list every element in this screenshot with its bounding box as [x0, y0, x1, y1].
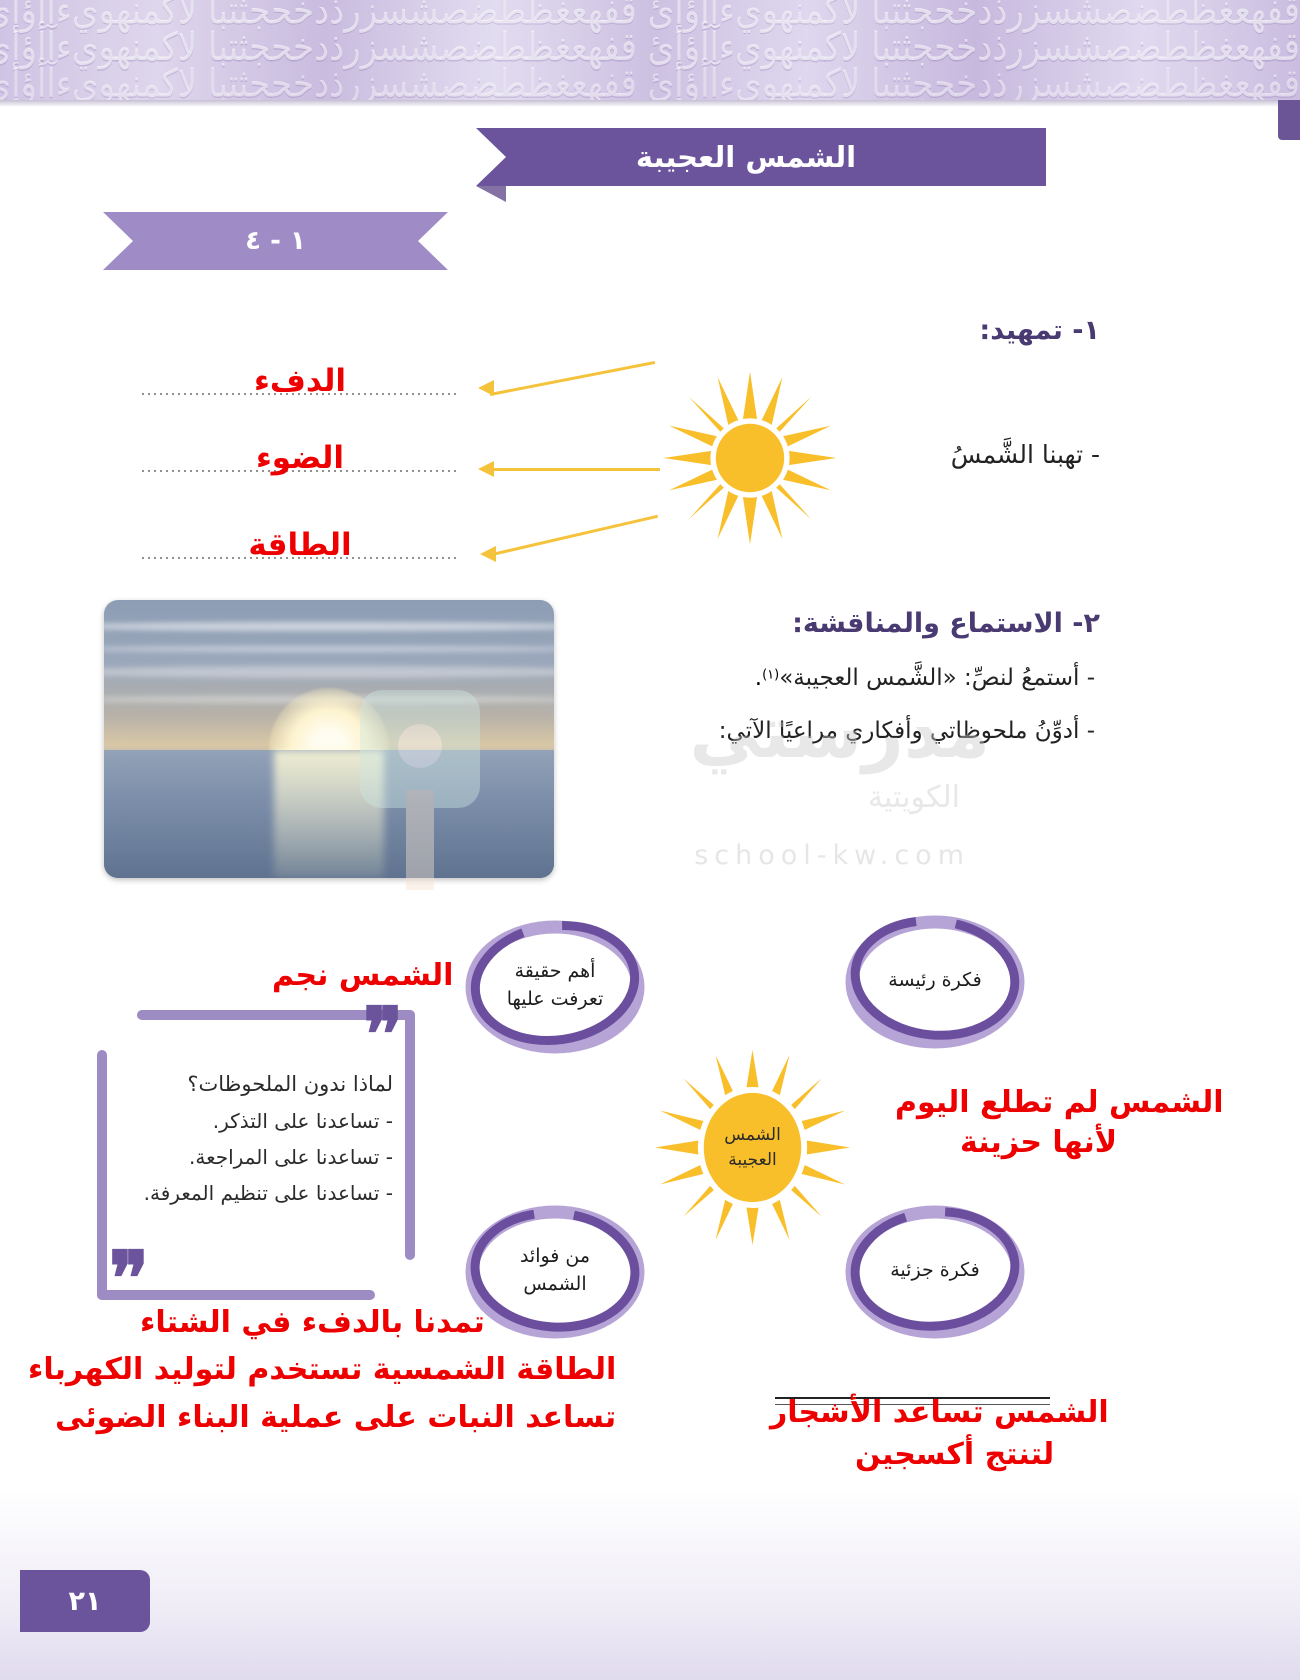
section2-line1-footnote: (١): [762, 668, 779, 683]
section2-line1-wrapper: - أستمعُ لنصِّ: «الشَّمس العجيبة»(١).: [755, 665, 1095, 691]
note-above-quote: الشمس نجم: [272, 958, 453, 993]
note-below-quote-line1: تمدنا بالدفء في الشتاء: [140, 1305, 485, 1340]
bubble-label: فكرة جزئية: [865, 1256, 1005, 1285]
bubble-top-left: أهم حقيقة تعرفت عليها: [460, 915, 650, 1055]
bubble-label: فكرة رئيسة: [865, 966, 1005, 995]
quote-close-icon: ❞: [109, 1254, 149, 1306]
bubble-bottom-right: فكرة جزئية: [840, 1200, 1030, 1340]
arabic-calligraphy-pattern-row3: قفهعغظطضصشسزرذدخحجثتبا لاكمنهويءآأؤإئ قف…: [0, 66, 1300, 100]
arrow-line-3: [492, 515, 658, 556]
bubble-label: أهم حقيقة تعرفت عليها: [485, 957, 625, 1014]
quote-item: - تساعدنا على المراجعة.: [118, 1145, 393, 1169]
answer-handwriting-3: الطاقة: [140, 527, 460, 563]
section1-prompt: - تهبنا الشَّمسُ: [951, 440, 1100, 469]
arrow-head-3: [480, 546, 496, 562]
answer-handwriting-2: الضوء: [140, 440, 460, 476]
arrow-line-1: [490, 361, 655, 396]
section2-heading: ٢- الاستماع والمناقشة:: [792, 608, 1100, 639]
bubble-label: من فوائد الشمس: [485, 1242, 625, 1299]
section2-line1: - أستمعُ لنصِّ: «الشَّمس العجيبة»: [779, 665, 1095, 691]
note-below-quote-line2: الطاقة الشمسية تستخدم لتوليد الكهرباء: [28, 1352, 616, 1387]
quote-open-icon: ❞: [363, 1010, 403, 1062]
quote-item: - تساعدنا على التذكر.: [118, 1109, 393, 1133]
arrow-head-2: [478, 461, 494, 477]
note-bottom-right-line2: لتنتج أكسجين: [855, 1437, 1054, 1472]
corner-tab: [1278, 100, 1300, 140]
bubble-top-right: فكرة رئيسة: [840, 910, 1030, 1050]
section1-heading: ١- تمهيد:: [979, 315, 1100, 346]
page-number: ٢١: [69, 1586, 102, 1617]
note-below-quote-line3: تساعد النبات على عملية البناء الضوئى: [55, 1400, 616, 1435]
arrow-line-2: [490, 468, 660, 471]
page-title: الشمس العجيبة: [636, 140, 886, 174]
page-number-badge: ٢١: [20, 1570, 150, 1632]
quote-title: لماذا ندون الملحوظات؟: [118, 1072, 393, 1096]
sun-illustration: [660, 368, 840, 548]
notes-rationale-card: ❞ ❞ لماذا ندون الملحوظات؟ - تساعدنا على …: [97, 1010, 415, 1300]
note-bottom-right-line1: الشمس تساعد الأشجار: [770, 1395, 1109, 1430]
arrow-head-1: [478, 380, 494, 396]
header-band-shadow: [0, 100, 1300, 107]
watermark-subtitle: الكويتية: [868, 780, 960, 815]
section2-line2: - أدوِّنُ ملحوظاتي وأفكاري مراعيًا الآتي…: [719, 718, 1095, 744]
watermark-url: school-kw.com: [694, 840, 970, 871]
note-right-of-map-line1: الشمس لم تطلع اليوم: [895, 1085, 1224, 1120]
title-ribbon-fold: [476, 186, 506, 202]
center-sun-label: الشمس العجيبة: [655, 1050, 850, 1245]
quote-item: - تساعدنا على تنظيم المعرفة.: [118, 1181, 393, 1205]
answer-handwriting-1: الدفء: [140, 363, 460, 399]
lesson-title-ribbon: الشمس العجيبة: [476, 128, 1046, 186]
lesson-number: ١ - ٤: [245, 226, 306, 256]
center-sun-node: الشمس العجيبة: [655, 1050, 850, 1245]
decorative-header-band: قفهعغظطضصشسزرذدخحجثتبا لاكمنهويءآأؤإئ قف…: [0, 0, 1300, 100]
note-right-of-map-line2: لأنها حزينة: [960, 1125, 1117, 1160]
page-bottom-gradient: [0, 1490, 1300, 1680]
lesson-number-ribbon: ١ - ٤: [103, 212, 448, 270]
bubble-bottom-left: من فوائد الشمس: [460, 1200, 650, 1340]
section2-line1-period: .: [755, 665, 762, 691]
sunset-photo: [104, 600, 554, 878]
